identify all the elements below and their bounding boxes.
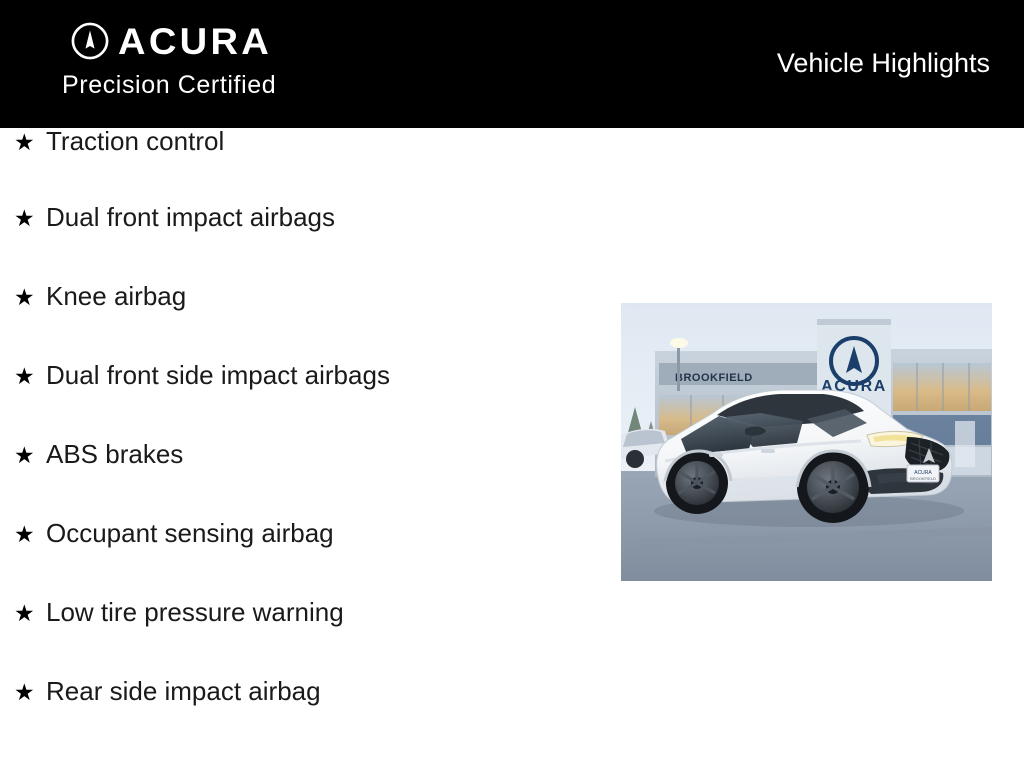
list-item-label: Low tire pressure warning	[46, 599, 344, 625]
list-item: ★ Knee airbag	[0, 283, 600, 362]
list-item-label: Occupant sensing airbag	[46, 520, 334, 546]
acura-wordmark: ACURA	[118, 23, 272, 60]
list-item: ★ Traction control	[0, 128, 600, 204]
star-icon: ★	[14, 286, 46, 309]
svg-text:BROOKFIELD: BROOKFIELD	[910, 476, 936, 481]
precision-certified-tagline: Precision Certified	[62, 73, 276, 98]
star-icon: ★	[14, 602, 46, 625]
list-item: ★ Low tire pressure warning	[0, 599, 600, 678]
list-item: ★ ABS brakes	[0, 441, 600, 520]
list-item: ★ Dual front side impact airbags	[0, 362, 600, 441]
brand-lockup: ACURA Precision Certified	[62, 22, 276, 98]
list-item-label: ABS brakes	[46, 441, 183, 467]
header-bar: ACURA Precision Certified Vehicle Highli…	[0, 0, 1024, 128]
vehicle-photo: BROOKFIELD ACURA	[621, 303, 992, 581]
star-icon: ★	[14, 365, 46, 388]
list-item-label: Knee airbag	[46, 283, 186, 309]
list-item: ★ Occupant sensing airbag	[0, 520, 600, 599]
vehicle-highlights-list: ★ Traction control ★ Dual front impact a…	[0, 128, 600, 757]
svg-text:BROOKFIELD: BROOKFIELD	[675, 372, 753, 384]
list-item-label: Rear side impact airbag	[46, 678, 321, 704]
list-item: ★ Rear side impact airbag	[0, 678, 600, 757]
star-icon: ★	[14, 131, 46, 154]
acura-caliper-emblem-icon	[71, 22, 109, 60]
star-icon: ★	[14, 207, 46, 230]
list-item-label: Dual front impact airbags	[46, 204, 335, 230]
page-title: Vehicle Highlights	[777, 50, 990, 77]
brand-logo-row: ACURA	[71, 22, 268, 60]
list-item-label: Traction control	[46, 128, 224, 154]
star-icon: ★	[14, 444, 46, 467]
star-icon: ★	[14, 523, 46, 546]
star-icon: ★	[14, 681, 46, 704]
list-item: ★ Dual front impact airbags	[0, 204, 600, 283]
list-item-label: Dual front side impact airbags	[46, 362, 390, 388]
